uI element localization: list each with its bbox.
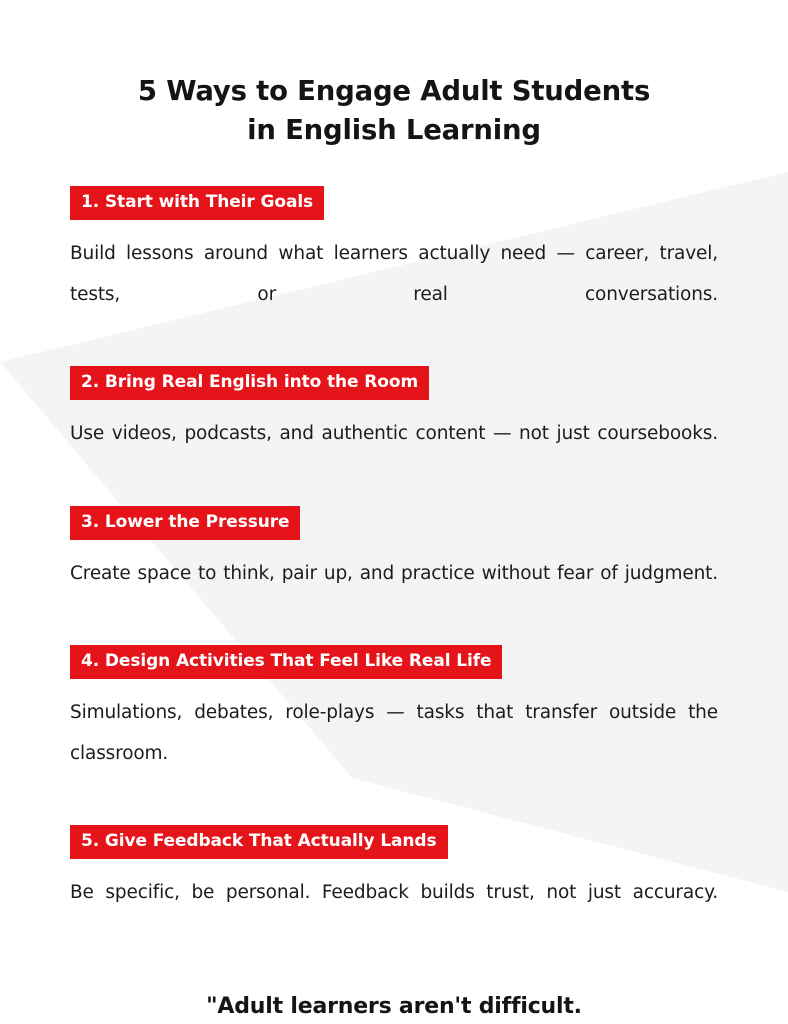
tip-body-2: Use videos, podcasts, and authentic cont… bbox=[70, 414, 718, 495]
poster-content: 5 Ways to Engage Adult Students in Engli… bbox=[0, 0, 788, 1024]
tip-body-1: Build lessons around what learners actua… bbox=[70, 234, 718, 356]
tip-badge-1: 1. Start with Their Goals bbox=[70, 186, 324, 220]
closing-quote: "Adult learners aren't difficult. They'r… bbox=[70, 984, 718, 1024]
tip-body-5: Be specific, be personal. Feedback build… bbox=[70, 873, 718, 954]
tip-body-3: Create space to think, pair up, and prac… bbox=[70, 554, 718, 635]
tips-list: 1. Start with Their Goals Build lessons … bbox=[70, 186, 718, 954]
tip-item-3: 3. Lower the Pressure Create space to th… bbox=[70, 506, 718, 635]
tip-badge-4: 4. Design Activities That Feel Like Real… bbox=[70, 645, 502, 679]
tip-badge-5: 5. Give Feedback That Actually Lands bbox=[70, 825, 448, 859]
poster-canvas: 5 Ways to Engage Adult Students in Engli… bbox=[0, 0, 788, 1024]
closing-quote-line-1: "Adult learners aren't difficult. bbox=[70, 984, 718, 1024]
tip-item-5: 5. Give Feedback That Actually Lands Be … bbox=[70, 825, 718, 954]
page-title-line-2: in English Learning bbox=[70, 111, 718, 150]
tip-body-4: Simulations, debates, role-plays — tasks… bbox=[70, 693, 718, 815]
tip-badge-2: 2. Bring Real English into the Room bbox=[70, 366, 429, 400]
tip-badge-3: 3. Lower the Pressure bbox=[70, 506, 300, 540]
tip-item-2: 2. Bring Real English into the Room Use … bbox=[70, 366, 718, 495]
page-title-line-1: 5 Ways to Engage Adult Students bbox=[70, 72, 718, 111]
page-title: 5 Ways to Engage Adult Students in Engli… bbox=[70, 0, 718, 150]
tip-item-4: 4. Design Activities That Feel Like Real… bbox=[70, 645, 718, 815]
tip-item-1: 1. Start with Their Goals Build lessons … bbox=[70, 186, 718, 356]
